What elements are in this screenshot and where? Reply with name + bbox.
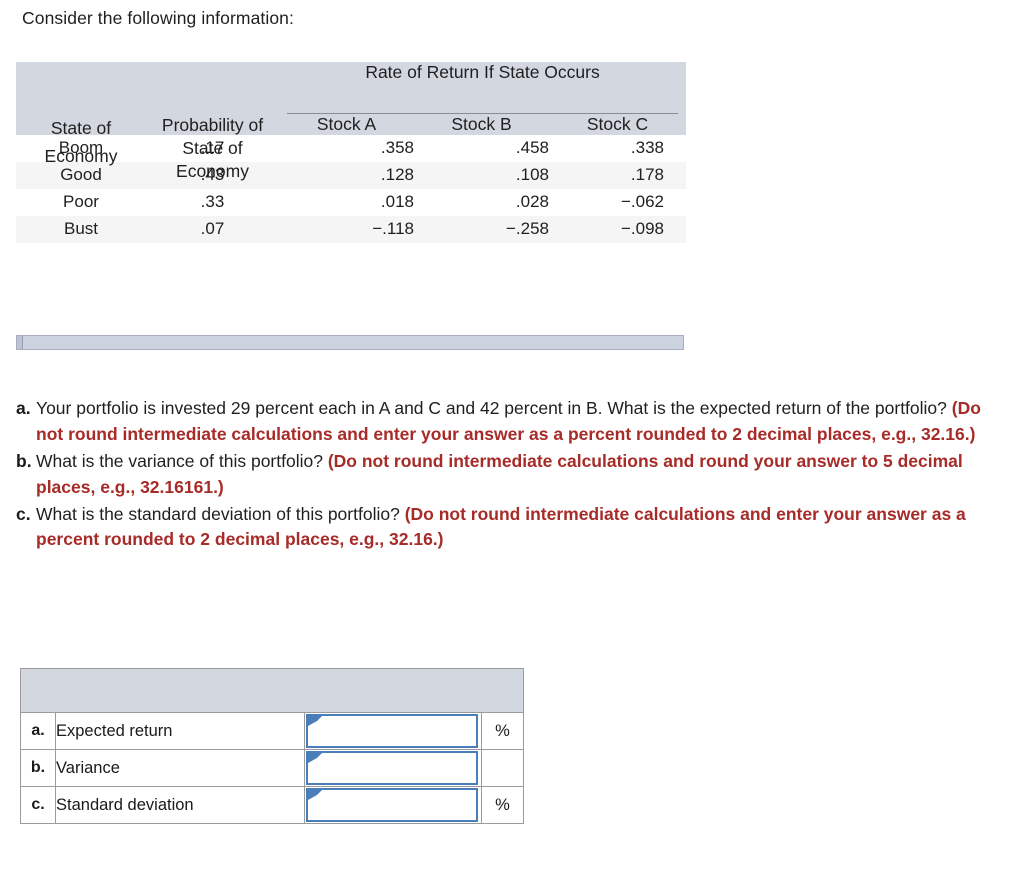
question-text: What is the standard deviation of this p… xyxy=(36,504,405,524)
blank-header-state xyxy=(16,62,146,135)
table-row: Boom.17.358.458.338 xyxy=(16,135,686,162)
question-text: Your portfolio is invested 29 percent ea… xyxy=(36,398,952,418)
question-body: What is the standard deviation of this p… xyxy=(36,502,1006,554)
information-table-container: Rate of Return If State Occurs Stock A S… xyxy=(16,62,686,243)
information-table: Rate of Return If State Occurs Stock A S… xyxy=(16,62,686,135)
question-item: b.What is the variance of this portfolio… xyxy=(16,449,1006,501)
cell-stock-c: .338 xyxy=(549,135,686,162)
rate-of-return-span-header: Rate of Return If State Occurs xyxy=(279,62,686,114)
answer-row-label: Variance xyxy=(56,750,305,787)
cell-stock-a: .358 xyxy=(279,135,414,162)
cell-stock-c: −.098 xyxy=(549,216,686,243)
cell-state: Bust xyxy=(16,216,146,243)
answer-input-cell xyxy=(305,787,482,824)
answer-table: a.Expected return%b.Variancec.Standard d… xyxy=(20,668,524,824)
answer-table-container: a.Expected return%b.Variancec.Standard d… xyxy=(20,668,524,824)
information-table-footer-bar xyxy=(16,335,684,350)
cell-probability: .33 xyxy=(146,189,279,216)
answer-input-cell xyxy=(305,750,482,787)
answer-input-box[interactable] xyxy=(306,788,478,822)
answer-row-letter: c. xyxy=(21,787,56,824)
answer-input[interactable] xyxy=(318,753,474,783)
cell-stock-b: −.258 xyxy=(414,216,549,243)
cell-stock-c: −.062 xyxy=(549,189,686,216)
cell-stock-a: .018 xyxy=(279,189,414,216)
cell-stock-b: .458 xyxy=(414,135,549,162)
cell-state: Poor xyxy=(16,189,146,216)
answer-input-box[interactable] xyxy=(306,751,478,785)
answer-row-label: Standard deviation xyxy=(56,787,305,824)
information-table-head: Rate of Return If State Occurs Stock A S… xyxy=(16,62,686,135)
question-body: Your portfolio is invested 29 percent ea… xyxy=(36,396,1006,448)
cell-stock-b: .108 xyxy=(414,162,549,189)
table-row: Poor.33.018.028−.062 xyxy=(16,189,686,216)
footer-bar-handle xyxy=(17,336,23,349)
information-table-body-wrapper: Boom.17.358.458.338Good.43.128.108.178Po… xyxy=(16,135,686,243)
column-header-stock-c: Stock C xyxy=(549,114,686,135)
question-body: What is the variance of this portfolio? … xyxy=(36,449,1006,501)
answer-row-unit xyxy=(482,750,524,787)
cell-stock-b: .028 xyxy=(414,189,549,216)
answer-input-cell xyxy=(305,713,482,750)
cell-state: Boom xyxy=(16,135,146,162)
answer-row: b.Variance xyxy=(21,750,524,787)
question-text: What is the variance of this portfolio? xyxy=(36,451,328,471)
questions-list: a.Your portfolio is invested 29 percent … xyxy=(16,396,1006,554)
cell-probability: .43 xyxy=(146,162,279,189)
cell-stock-a: .128 xyxy=(279,162,414,189)
answer-table-header-cell xyxy=(21,669,524,713)
answer-input[interactable] xyxy=(318,790,474,820)
cell-stock-c: .178 xyxy=(549,162,686,189)
cell-stock-a: −.118 xyxy=(279,216,414,243)
cell-probability: .07 xyxy=(146,216,279,243)
answer-row-label: Expected return xyxy=(56,713,305,750)
answer-table-body: a.Expected return%b.Variancec.Standard d… xyxy=(21,669,524,824)
rate-of-return-span-header-label: Rate of Return If State Occurs xyxy=(365,62,599,82)
column-header-stock-a: Stock A xyxy=(279,114,414,135)
answer-row: c.Standard deviation% xyxy=(21,787,524,824)
table-row: Bust.07−.118−.258−.098 xyxy=(16,216,686,243)
question-item: a.Your portfolio is invested 29 percent … xyxy=(16,396,1006,448)
blank-header-probability xyxy=(146,62,279,135)
question-letter: a. xyxy=(16,396,36,422)
column-header-stock-b: Stock B xyxy=(414,114,549,135)
answer-row-unit: % xyxy=(482,787,524,824)
answer-table-header-row xyxy=(21,669,524,713)
answer-row-letter: a. xyxy=(21,713,56,750)
information-table-spanrow: Rate of Return If State Occurs xyxy=(16,62,686,114)
answer-row-letter: b. xyxy=(21,750,56,787)
table-row: Good.43.128.108.178 xyxy=(16,162,686,189)
answer-input-box[interactable] xyxy=(306,714,478,748)
answer-row-unit: % xyxy=(482,713,524,750)
question-letter: c. xyxy=(16,502,36,528)
information-table-body: Boom.17.358.458.338Good.43.128.108.178Po… xyxy=(16,135,686,243)
question-letter: b. xyxy=(16,449,36,475)
cell-probability: .17 xyxy=(146,135,279,162)
question-item: c.What is the standard deviation of this… xyxy=(16,502,1006,554)
page-intro-text: Consider the following information: xyxy=(22,8,294,29)
answer-input[interactable] xyxy=(318,716,474,746)
answer-row: a.Expected return% xyxy=(21,713,524,750)
cell-state: Good xyxy=(16,162,146,189)
